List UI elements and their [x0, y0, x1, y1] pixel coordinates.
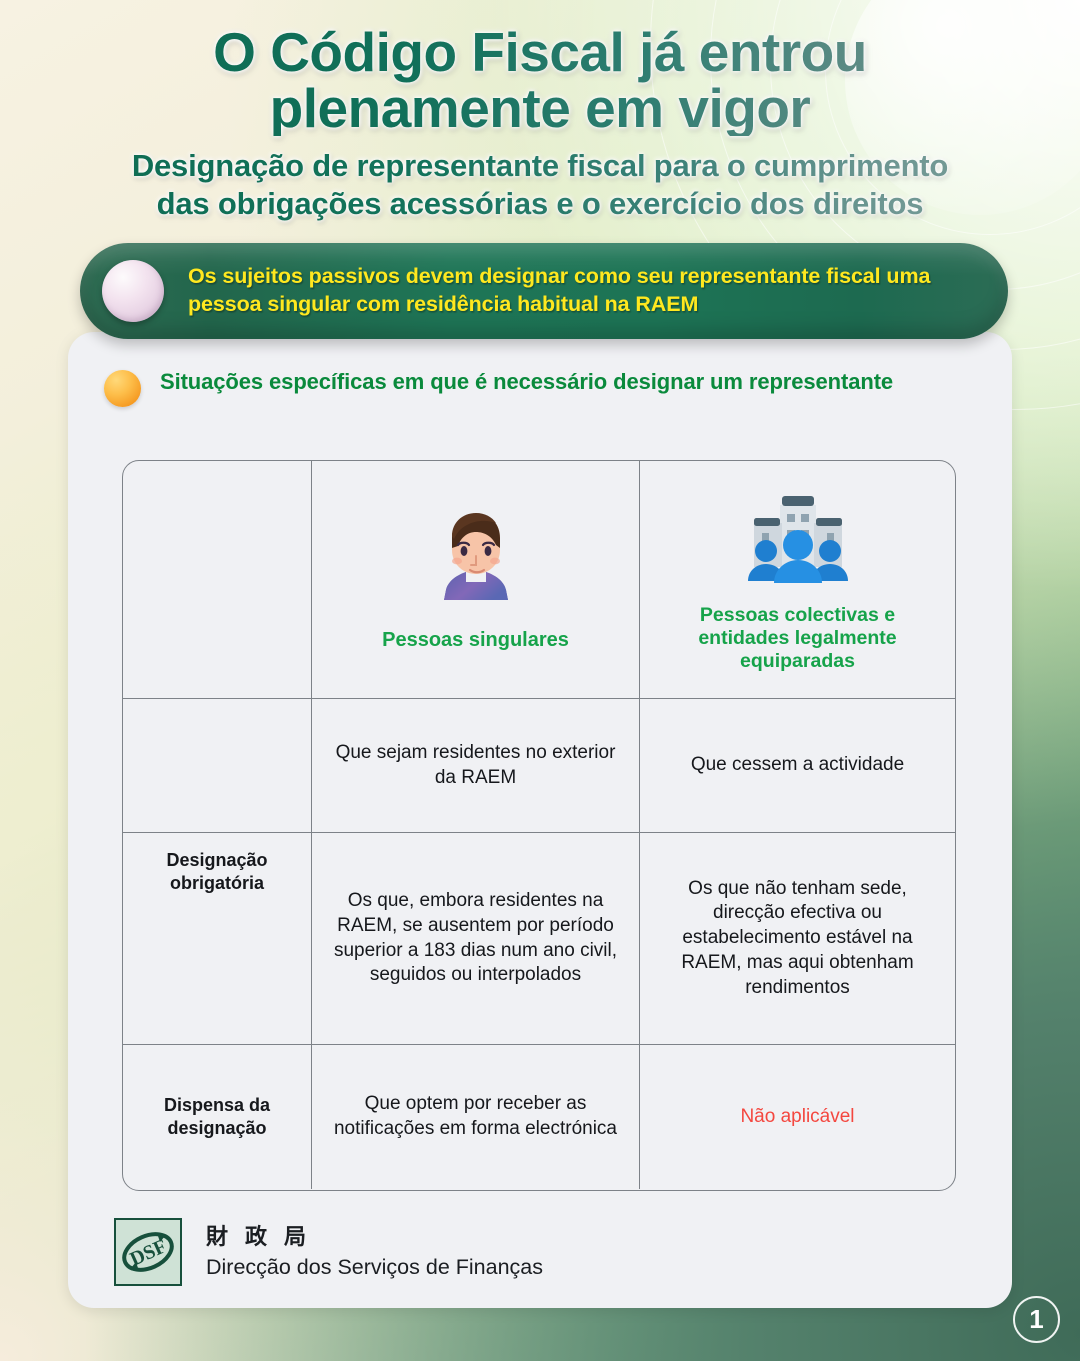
- footer: DSF 財政局 Direcção dos Serviços de Finança…: [114, 1218, 543, 1286]
- footer-text-block: 財政局 Direcção dos Serviços de Finanças: [206, 1224, 543, 1280]
- title-line-2: plenamente em vigor: [40, 80, 1040, 136]
- table-cell-text: Que cessem a actividade: [691, 753, 904, 778]
- bullet-dot-icon: [102, 260, 164, 322]
- table-corner-cell: [123, 461, 311, 698]
- page-subtitle: Designação de representante fiscal para …: [0, 147, 1080, 223]
- table-rowlabel-exemption: Dispensa da designação: [123, 1045, 311, 1189]
- subtitle-line-2: das obrigações acessórias e o exercício …: [34, 185, 1046, 223]
- page-number-badge: 1: [1013, 1296, 1060, 1343]
- table-header-label-entities: Pessoas colectivas e entidades legalment…: [652, 604, 943, 673]
- highlight-banner: Os sujeitos passivos devem designar como…: [80, 243, 1008, 339]
- table-header-label-individuals: Pessoas singulares: [382, 629, 569, 653]
- table-cell: Que optem por receber as notificações em…: [311, 1045, 639, 1189]
- representation-table: Pessoas singulares: [122, 460, 956, 1191]
- table-rowlabel-text: Designação obrigatória: [135, 849, 299, 894]
- table-cell: Os que não tenham sede, direcção efectiv…: [639, 833, 955, 1044]
- subtitle-line-1: Designação de representante fiscal para …: [34, 147, 1046, 185]
- title-line-1: O Código Fiscal já entrou: [40, 24, 1040, 80]
- table-cell: Que cessem a actividade: [639, 699, 955, 832]
- person-icon: [433, 506, 519, 615]
- table-cell-not-applicable: Não aplicável: [740, 1105, 854, 1130]
- table-row: Dispensa da designação Que optem por rec…: [123, 1044, 955, 1189]
- table-cell-text: Os que não tenham sede, direcção efectiv…: [652, 877, 943, 1000]
- organization-icon: [744, 487, 852, 590]
- table-rowlabel-text: Dispensa da designação: [135, 1094, 299, 1139]
- footer-name-pt: Direcção dos Serviços de Finanças: [206, 1255, 543, 1280]
- dsf-logo-icon: DSF: [114, 1218, 182, 1286]
- section-heading: Situações específicas em que é necessári…: [104, 368, 934, 407]
- table-cell: Os que, embora residentes na RAEM, se au…: [311, 833, 639, 1044]
- footer-name-cn: 財政局: [206, 1224, 543, 1250]
- page-number: 1: [1029, 1304, 1043, 1335]
- table-row: Designação obrigatória Os que, embora re…: [123, 832, 955, 1044]
- bullet-dot-orange-icon: [104, 370, 141, 407]
- table-cell-text: Que optem por receber as notificações em…: [324, 1092, 627, 1141]
- table-cell-text: Que sejam residentes no exterior da RAEM: [324, 741, 627, 790]
- table-header-cell-entities: Pessoas colectivas e entidades legalment…: [639, 461, 955, 698]
- poster-header: O Código Fiscal já entrou plenamente em …: [0, 24, 1080, 223]
- section-heading-label: Situações específicas em que é necessári…: [160, 368, 893, 396]
- table-header-row: Pessoas singulares: [123, 461, 955, 698]
- table-cell-text: Os que, embora residentes na RAEM, se au…: [324, 889, 627, 988]
- table-cell: Que sejam residentes no exterior da RAEM: [311, 699, 639, 832]
- poster-root: O Código Fiscal já entrou plenamente em …: [0, 0, 1080, 1361]
- table-header-cell-individuals: Pessoas singulares: [311, 461, 639, 698]
- banner-text: Os sujeitos passivos devem designar como…: [188, 263, 1008, 319]
- page-title: O Código Fiscal já entrou plenamente em …: [0, 24, 1080, 136]
- table-cell: Não aplicável: [639, 1045, 955, 1189]
- table-rowlabel-obligatory: Designação obrigatória: [123, 699, 311, 1045]
